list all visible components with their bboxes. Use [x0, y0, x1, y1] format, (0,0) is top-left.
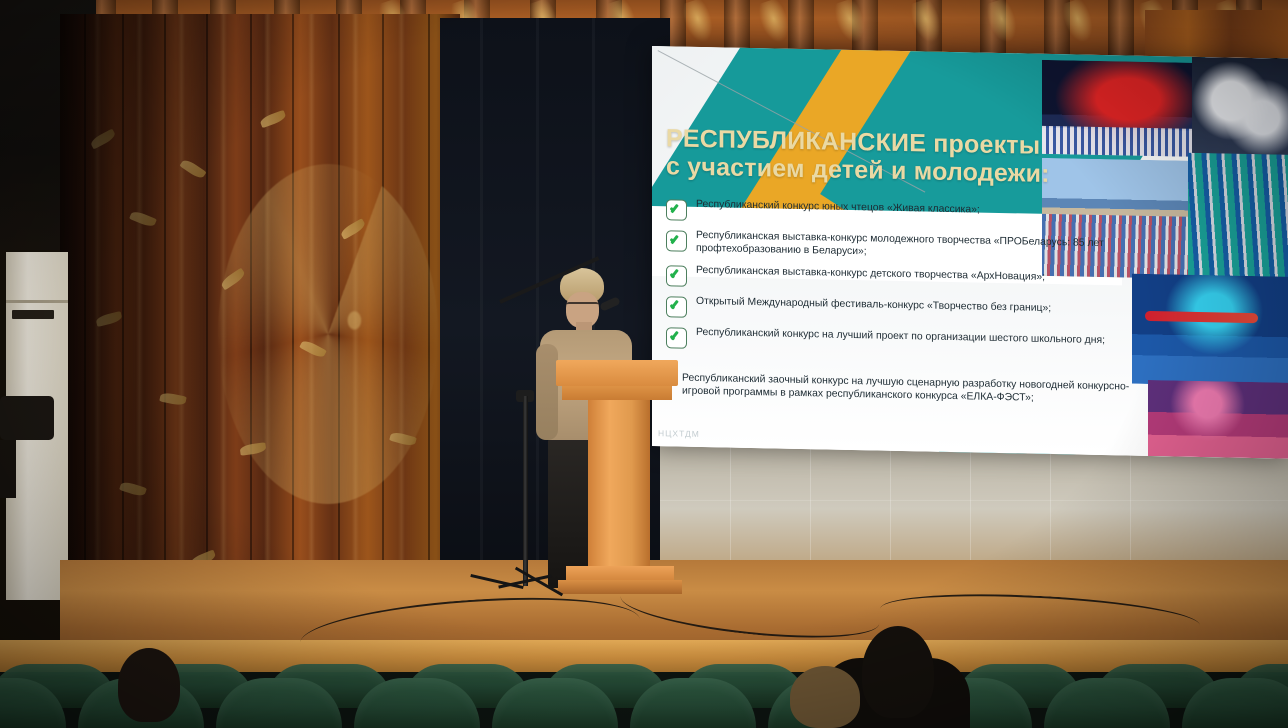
cabinet-seam [6, 300, 68, 303]
presenter-arm [536, 344, 558, 440]
curtain-shading [60, 14, 460, 654]
podium-top-lip [562, 386, 672, 400]
podium-top [556, 360, 678, 386]
list-item-label: Республиканская выставка-конкурс молодеж… [696, 230, 1166, 265]
floor-speaker-side [0, 440, 16, 498]
slide-bullet-list: Республиканский конкурс юных чтецов «Жив… [666, 198, 1166, 367]
curtain-right-fragment [1145, 10, 1288, 58]
list-item: Республиканская выставка-конкурс детског… [666, 264, 1166, 296]
list-item-label: Республиканская выставка-конкурс детског… [696, 264, 1045, 284]
audience-seating [0, 672, 1288, 728]
cabinet-vent [12, 310, 54, 319]
auditorium-photo: РЕСПУБЛИКАНСКИЕ проекты с участием детей… [0, 0, 1288, 728]
projection-screen: РЕСПУБЛИКАНСКИЕ проекты с участием детей… [652, 46, 1288, 459]
list-item: Республиканская выставка-конкурс молодеж… [666, 229, 1166, 265]
presentation-slide: РЕСПУБЛИКАНСКИЕ проекты с участием детей… [652, 46, 1288, 459]
audience-member-head [790, 666, 860, 728]
podium-column [588, 400, 650, 570]
slide-watermark: НЦХТДМ [658, 428, 700, 439]
audience-member-head [118, 648, 180, 722]
collage-photo-white-costume-dancers [1192, 57, 1288, 167]
checkmark-icon [666, 327, 687, 348]
audience-member-head [862, 626, 934, 718]
slide-title: РЕСПУБЛИКАНСКИЕ проекты с участием детей… [666, 124, 1106, 189]
floor-speaker [0, 396, 54, 440]
list-item: Республиканский конкурс на лучший проект… [666, 326, 1166, 358]
list-item: Открытый Международный фестиваль-конкурс… [666, 295, 1166, 327]
checkmark-icon [666, 230, 687, 251]
list-item-label: Открытый Международный фестиваль-конкурс… [696, 295, 1051, 315]
checkmark-icon [666, 265, 687, 286]
checkmark-icon [666, 199, 687, 220]
collage-photo-pink-purple-gymnastics-show [1148, 380, 1288, 459]
checkmark-icon [666, 296, 687, 317]
presenter-glasses [566, 302, 599, 312]
collage-photo-teal-costume-choir [1188, 153, 1288, 281]
list-item-label: Республиканский конкурс на лучший проект… [696, 326, 1105, 347]
microphone-stand-pole [523, 396, 528, 586]
